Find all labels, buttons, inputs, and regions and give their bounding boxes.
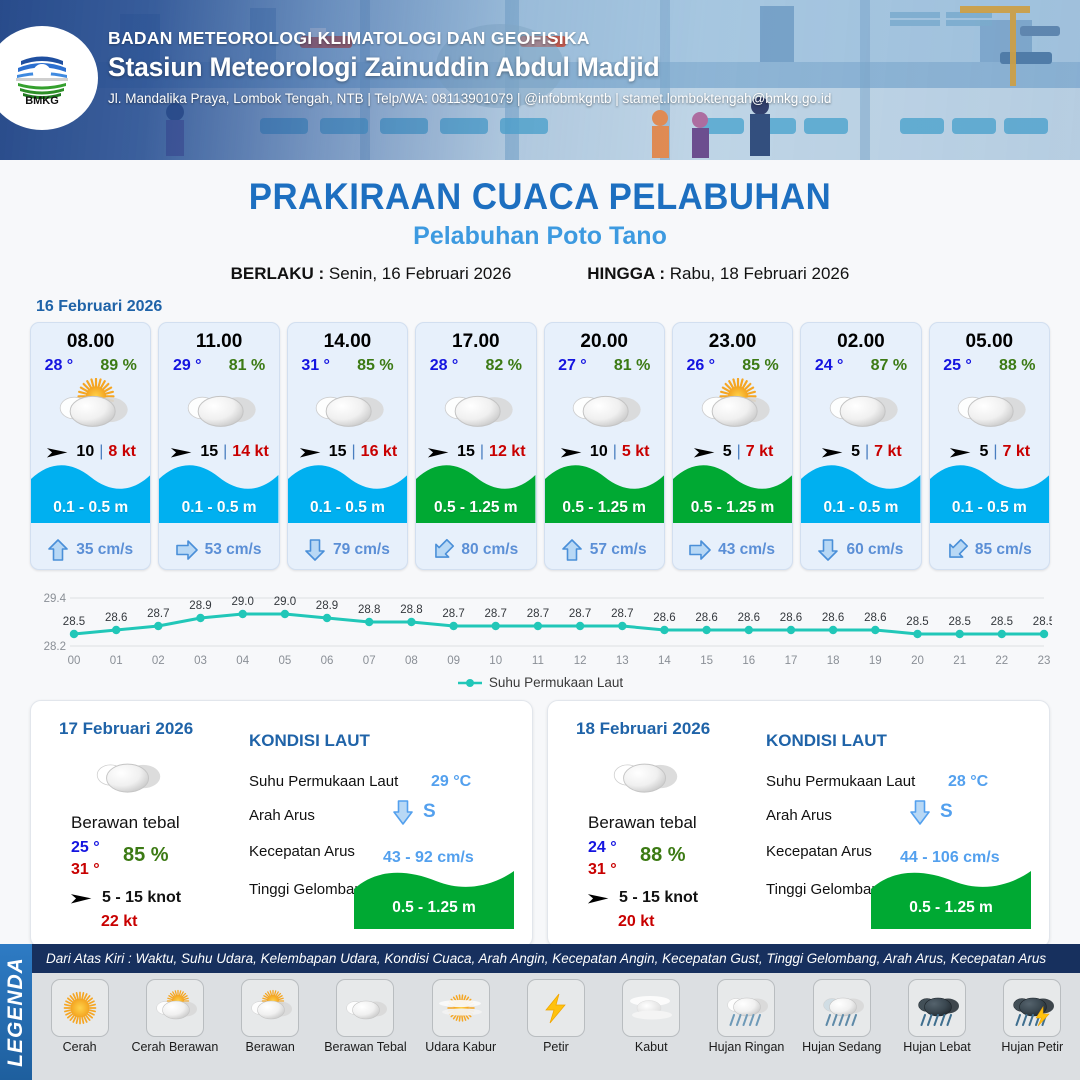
heavy-rain-icon bbox=[908, 979, 966, 1037]
legend-item-label: Hujan Petir bbox=[986, 1041, 1078, 1055]
svg-text:28.7: 28.7 bbox=[485, 608, 507, 620]
legend-item-label: Berawan Tebal bbox=[319, 1041, 411, 1055]
current-speed: 35 cm/s bbox=[76, 541, 133, 559]
svg-text:28.6: 28.6 bbox=[105, 612, 127, 624]
legend-section: LEGENDA Dari Atas Kiri : Waktu, Suhu Uda… bbox=[0, 944, 1080, 1080]
title-section: PRAKIRAAN CUACA PELABUHAN Pelabuhan Poto… bbox=[0, 176, 1080, 284]
svg-text:28.7: 28.7 bbox=[527, 608, 549, 620]
legend-item: Cerah Berawan bbox=[129, 979, 221, 1055]
card-temperature: 27 ° bbox=[558, 357, 587, 375]
card-current: 53 cm/s bbox=[159, 539, 278, 561]
card-temperature: 31 ° bbox=[301, 357, 330, 375]
current-direction-icon bbox=[818, 539, 838, 561]
legend-item-label: Berawan bbox=[224, 1041, 316, 1055]
svg-text:18: 18 bbox=[827, 655, 840, 667]
panel-wind-range: 5 - 15 knot bbox=[102, 889, 181, 907]
panel-humidity: 85 % bbox=[123, 844, 169, 867]
current-direction-icon bbox=[689, 540, 711, 560]
sea-row-label: Kecepatan Arus bbox=[249, 843, 355, 860]
card-time: 02.00 bbox=[801, 331, 920, 353]
panel-wave-height: 0.5 - 1.25 m bbox=[354, 899, 514, 917]
card-time: 17.00 bbox=[416, 331, 535, 353]
legend-item: Berawan bbox=[224, 979, 316, 1055]
legend-item: Cerah bbox=[34, 979, 126, 1055]
port-name: Pelabuhan Poto Tano bbox=[0, 222, 1080, 251]
sea-current-direction: S bbox=[393, 799, 436, 825]
svg-text:28.8: 28.8 bbox=[400, 604, 422, 616]
svg-text:12: 12 bbox=[574, 655, 587, 667]
svg-text:16: 16 bbox=[742, 655, 755, 667]
legend-items: Cerah Cerah Berawan Berawan bbox=[32, 973, 1080, 1080]
svg-text:28.2: 28.2 bbox=[44, 641, 66, 653]
valid-to-value: Rabu, 18 Februari 2026 bbox=[670, 264, 850, 283]
agency-name: BADAN METEOROLOGI KLIMATOLOGI DAN GEOFIS… bbox=[108, 28, 831, 49]
cerah-berawan-icon bbox=[673, 377, 792, 439]
svg-text:17: 17 bbox=[785, 655, 798, 667]
moderate-rain-icon bbox=[813, 979, 871, 1037]
arrow-down-icon bbox=[393, 799, 413, 825]
sea-row-label: Arah Arus bbox=[766, 807, 832, 824]
sea-row-value: 44 - 106 cm/s bbox=[900, 849, 1000, 867]
panel-wind: 5 - 15 knot bbox=[69, 889, 181, 908]
bmkg-logo-icon: BMKG bbox=[11, 51, 73, 105]
svg-text:28.6: 28.6 bbox=[780, 612, 802, 624]
current-direction-icon bbox=[48, 539, 68, 561]
svg-text:22: 22 bbox=[995, 655, 1008, 667]
svg-text:BMKG: BMKG bbox=[25, 95, 59, 105]
legend-sidebar-label: LEGENDA bbox=[4, 957, 28, 1067]
contact-line: Jl. Mandalika Praya, Lombok Tengah, NTB … bbox=[108, 91, 831, 106]
svg-text:28.7: 28.7 bbox=[442, 608, 464, 620]
card-time: 11.00 bbox=[159, 331, 278, 353]
arrow-down-icon bbox=[910, 799, 930, 825]
legend-item-label: Petir bbox=[510, 1041, 602, 1055]
sea-current-direction: S bbox=[910, 799, 953, 825]
svg-text:28.5: 28.5 bbox=[63, 616, 85, 628]
svg-text:04: 04 bbox=[236, 655, 249, 667]
wave-height: 0.1 - 0.5 m bbox=[159, 499, 278, 517]
panel-wave-badge: 0.5 - 1.25 m bbox=[354, 867, 514, 929]
card-humidity: 88 % bbox=[999, 357, 1035, 375]
card-humidity: 81 % bbox=[614, 357, 650, 375]
card-humidity: 81 % bbox=[229, 357, 265, 375]
wave-height: 0.1 - 0.5 m bbox=[801, 499, 920, 517]
card-time: 20.00 bbox=[545, 331, 664, 353]
card-current: 85 cm/s bbox=[930, 539, 1049, 561]
sea-row-label: Kecepatan Arus bbox=[766, 843, 872, 860]
panel-wind: 5 - 15 knot bbox=[586, 889, 698, 908]
svg-text:28.6: 28.6 bbox=[864, 612, 886, 624]
forecast-card: 02.00 24 ° 87 % 5 | 7 kt 0. bbox=[800, 322, 921, 570]
lightning-icon bbox=[527, 979, 585, 1037]
valid-to: HINGGA : Rabu, 18 Februari 2026 bbox=[587, 264, 849, 284]
sst-chart-svg: 29.428.228.50028.60128.70228.90329.00429… bbox=[28, 580, 1052, 672]
forecast-date-label: 16 Februari 2026 bbox=[36, 298, 1080, 316]
card-current: 79 cm/s bbox=[288, 539, 407, 561]
svg-text:29.0: 29.0 bbox=[274, 596, 296, 608]
legend-item-label: Udara Kabur bbox=[415, 1041, 507, 1055]
svg-text:28.5: 28.5 bbox=[949, 616, 971, 628]
forecast-card: 08.00 28 ° 89 % 10 | 8 kt 0 bbox=[30, 322, 151, 570]
berawan-tebal-icon bbox=[87, 747, 165, 808]
light-rain-icon bbox=[717, 979, 775, 1037]
panel-wind-range: 5 - 15 knot bbox=[619, 889, 698, 907]
svg-text:28.7: 28.7 bbox=[569, 608, 591, 620]
panel-temp-min: 25 ° bbox=[71, 839, 100, 857]
card-current: 80 cm/s bbox=[416, 539, 535, 561]
legend-item-label: Hujan Sedang bbox=[796, 1041, 888, 1055]
panel-humidity: 88 % bbox=[640, 844, 686, 867]
legend-item: Hujan Lebat bbox=[891, 979, 983, 1055]
svg-text:29.0: 29.0 bbox=[232, 596, 254, 608]
svg-text:28.9: 28.9 bbox=[189, 600, 211, 612]
svg-text:28.9: 28.9 bbox=[316, 600, 338, 612]
sea-row-value: S bbox=[940, 801, 953, 823]
valid-from-value: Senin, 16 Februari 2026 bbox=[329, 264, 511, 283]
wave-height: 0.1 - 0.5 m bbox=[288, 499, 407, 517]
current-speed: 43 cm/s bbox=[718, 541, 775, 559]
current-direction-icon bbox=[562, 539, 582, 561]
legend-item: Hujan Ringan bbox=[700, 979, 792, 1055]
svg-text:02: 02 bbox=[152, 655, 165, 667]
station-name: Stasiun Meteorologi Zainuddin Abdul Madj… bbox=[108, 52, 831, 83]
card-temperature: 28 ° bbox=[430, 357, 459, 375]
svg-text:28.6: 28.6 bbox=[822, 612, 844, 624]
svg-text:08: 08 bbox=[405, 655, 418, 667]
svg-text:23: 23 bbox=[1038, 655, 1051, 667]
legend-note: Dari Atas Kiri : Waktu, Suhu Udara, Kele… bbox=[32, 944, 1080, 973]
current-speed: 57 cm/s bbox=[590, 541, 647, 559]
forecast-card: 17.00 28 ° 82 % 15 | 12 kt bbox=[415, 322, 536, 570]
svg-text:00: 00 bbox=[68, 655, 81, 667]
svg-text:15: 15 bbox=[700, 655, 713, 667]
card-temperature: 24 ° bbox=[815, 357, 844, 375]
legend-main: Dari Atas Kiri : Waktu, Suhu Udara, Kele… bbox=[32, 944, 1080, 1080]
svg-text:06: 06 bbox=[321, 655, 334, 667]
wind-direction-icon bbox=[69, 889, 95, 908]
chart-legend: Suhu Permukaan Laut bbox=[0, 675, 1080, 690]
panel-wave-height: 0.5 - 1.25 m bbox=[871, 899, 1031, 917]
wave-height: 0.5 - 1.25 m bbox=[545, 499, 664, 517]
panel-temp-max: 31 ° bbox=[588, 861, 617, 879]
svg-text:28.7: 28.7 bbox=[611, 608, 633, 620]
svg-text:28.5: 28.5 bbox=[1033, 616, 1052, 628]
sea-row-label: Suhu Permukaan Laut bbox=[249, 773, 398, 790]
sea-conditions-title: KONDISI LAUT bbox=[249, 731, 370, 751]
svg-text:01: 01 bbox=[110, 655, 123, 667]
wave-height: 0.5 - 1.25 m bbox=[673, 499, 792, 517]
valid-to-label: HINGGA : bbox=[587, 264, 665, 283]
forecast-card: 14.00 31 ° 85 % 15 | 16 kt bbox=[287, 322, 408, 570]
legend-item: Berawan Tebal bbox=[319, 979, 411, 1055]
current-direction-icon bbox=[429, 535, 459, 565]
sea-row-value: S bbox=[423, 801, 436, 823]
wave-height: 0.1 - 0.5 m bbox=[930, 499, 1049, 517]
thunderstorm-icon bbox=[1003, 979, 1061, 1037]
cloud-sun-icon bbox=[241, 979, 299, 1037]
sea-row-value: 29 °C bbox=[431, 773, 471, 791]
svg-text:07: 07 bbox=[363, 655, 376, 667]
current-direction-icon bbox=[305, 539, 325, 561]
svg-text:28.6: 28.6 bbox=[695, 612, 717, 624]
card-humidity: 85 % bbox=[742, 357, 778, 375]
current-speed: 80 cm/s bbox=[461, 541, 518, 559]
svg-text:28.6: 28.6 bbox=[653, 612, 675, 624]
berawan-tebal-icon bbox=[604, 747, 682, 808]
legend-item: Udara Kabur bbox=[415, 979, 507, 1055]
svg-text:29.4: 29.4 bbox=[44, 593, 67, 605]
svg-text:19: 19 bbox=[869, 655, 882, 667]
wind-direction-icon bbox=[586, 889, 612, 908]
svg-text:14: 14 bbox=[658, 655, 671, 667]
svg-text:28.5: 28.5 bbox=[906, 616, 928, 628]
sst-chart: 29.428.228.50028.60128.70228.90329.00429… bbox=[28, 580, 1052, 672]
page-header: BMKG BADAN METEOROLOGI KLIMATOLOGI DAN G… bbox=[0, 0, 1080, 160]
berawan-tebal-icon bbox=[288, 377, 407, 439]
sun-cloud-icon bbox=[146, 979, 204, 1037]
fog-icon bbox=[622, 979, 680, 1037]
card-humidity: 82 % bbox=[485, 357, 521, 375]
card-temperature: 26 ° bbox=[686, 357, 715, 375]
day-forecast-panel: 18 Februari 2026 Berawan tebal 24 ° 31 °… bbox=[547, 700, 1050, 948]
panel-temp-min: 24 ° bbox=[588, 839, 617, 857]
wave-height: 0.1 - 0.5 m bbox=[31, 499, 150, 517]
card-time: 08.00 bbox=[31, 331, 150, 353]
berawan-tebal-icon bbox=[930, 377, 1049, 439]
legend-item: Kabut bbox=[605, 979, 697, 1055]
sea-row-label: Arah Arus bbox=[249, 807, 315, 824]
forecast-card-row: 08.00 28 ° 89 % 10 | 8 kt 0 bbox=[0, 322, 1080, 570]
panel-temp-max: 31 ° bbox=[71, 861, 100, 879]
legend-item-label: Hujan Ringan bbox=[700, 1041, 792, 1055]
current-speed: 53 cm/s bbox=[205, 541, 262, 559]
forecast-card: 05.00 25 ° 88 % 5 | 7 kt 0. bbox=[929, 322, 1050, 570]
forecast-card: 20.00 27 ° 81 % 10 | 5 kt 0 bbox=[544, 322, 665, 570]
card-temperature: 25 ° bbox=[943, 357, 972, 375]
legend-item-label: Cerah bbox=[34, 1041, 126, 1055]
sea-row-value: 43 - 92 cm/s bbox=[383, 849, 474, 867]
legend-sidebar: LEGENDA bbox=[0, 944, 32, 1080]
wave-height: 0.5 - 1.25 m bbox=[416, 499, 535, 517]
legend-item: Petir bbox=[510, 979, 602, 1055]
panel-gust: 22 kt bbox=[101, 913, 137, 931]
card-current: 35 cm/s bbox=[31, 539, 150, 561]
berawan-tebal-icon bbox=[416, 377, 535, 439]
validity-row: BERLAKU : Senin, 16 Februari 2026 HINGGA… bbox=[0, 264, 1080, 284]
sea-row-label: Suhu Permukaan Laut bbox=[766, 773, 915, 790]
card-humidity: 87 % bbox=[871, 357, 907, 375]
haze-icon bbox=[432, 979, 490, 1037]
svg-text:28.5: 28.5 bbox=[991, 616, 1013, 628]
forecast-card: 23.00 26 ° 85 % 5 | 7 kt 0. bbox=[672, 322, 793, 570]
legend-item-label: Kabut bbox=[605, 1041, 697, 1055]
current-speed: 79 cm/s bbox=[333, 541, 390, 559]
card-humidity: 85 % bbox=[357, 357, 393, 375]
card-current: 57 cm/s bbox=[545, 539, 664, 561]
valid-from-label: BERLAKU : bbox=[231, 264, 325, 283]
sea-row-label: Tinggi Gelombang bbox=[766, 881, 888, 898]
panel-condition: Berawan tebal bbox=[588, 813, 697, 833]
valid-from: BERLAKU : Senin, 16 Februari 2026 bbox=[231, 264, 512, 284]
card-time: 23.00 bbox=[673, 331, 792, 353]
current-speed: 85 cm/s bbox=[975, 541, 1032, 559]
card-current: 60 cm/s bbox=[801, 539, 920, 561]
panel-gust: 20 kt bbox=[618, 913, 654, 931]
card-current: 43 cm/s bbox=[673, 539, 792, 561]
svg-text:11: 11 bbox=[532, 655, 544, 667]
chart-legend-label: Suhu Permukaan Laut bbox=[489, 675, 623, 690]
svg-text:28.6: 28.6 bbox=[738, 612, 760, 624]
sea-conditions-title: KONDISI LAUT bbox=[766, 731, 887, 751]
card-time: 14.00 bbox=[288, 331, 407, 353]
current-direction-icon bbox=[942, 535, 972, 565]
legend-item-label: Hujan Lebat bbox=[891, 1041, 983, 1055]
sea-row-value: 28 °C bbox=[948, 773, 988, 791]
forecast-card: 11.00 29 ° 81 % 15 | 14 kt bbox=[158, 322, 279, 570]
berawan-tebal-icon bbox=[159, 377, 278, 439]
day-forecast-panel: 17 Februari 2026 Berawan tebal 25 ° 31 °… bbox=[30, 700, 533, 948]
svg-text:05: 05 bbox=[279, 655, 292, 667]
panel-date: 18 Februari 2026 bbox=[576, 719, 710, 739]
clouds-icon bbox=[336, 979, 394, 1037]
current-speed: 60 cm/s bbox=[846, 541, 903, 559]
sea-row-label: Tinggi Gelombang bbox=[249, 881, 371, 898]
page-title: PRAKIRAAN CUACA PELABUHAN bbox=[32, 176, 1047, 218]
card-temperature: 29 ° bbox=[173, 357, 202, 375]
svg-text:10: 10 bbox=[489, 655, 502, 667]
card-temperature: 28 ° bbox=[45, 357, 74, 375]
berawan-tebal-icon bbox=[801, 377, 920, 439]
legend-item-label: Cerah Berawan bbox=[129, 1041, 221, 1055]
legend-marker-icon bbox=[457, 678, 483, 688]
svg-text:21: 21 bbox=[953, 655, 966, 667]
panel-wave-badge: 0.5 - 1.25 m bbox=[871, 867, 1031, 929]
svg-text:28.8: 28.8 bbox=[358, 604, 380, 616]
cerah-berawan-icon bbox=[31, 377, 150, 439]
card-time: 05.00 bbox=[930, 331, 1049, 353]
sun-icon bbox=[51, 979, 109, 1037]
card-humidity: 89 % bbox=[100, 357, 136, 375]
legend-item: Hujan Petir bbox=[986, 979, 1078, 1055]
svg-text:28.7: 28.7 bbox=[147, 608, 169, 620]
day-panel-row: 17 Februari 2026 Berawan tebal 25 ° 31 °… bbox=[0, 690, 1080, 948]
panel-condition: Berawan tebal bbox=[71, 813, 180, 833]
panel-date: 17 Februari 2026 bbox=[59, 719, 193, 739]
svg-text:09: 09 bbox=[447, 655, 460, 667]
svg-text:03: 03 bbox=[194, 655, 207, 667]
berawan-tebal-icon bbox=[545, 377, 664, 439]
legend-item: Hujan Sedang bbox=[796, 979, 888, 1055]
svg-text:20: 20 bbox=[911, 655, 924, 667]
svg-text:13: 13 bbox=[616, 655, 629, 667]
current-direction-icon bbox=[176, 540, 198, 560]
